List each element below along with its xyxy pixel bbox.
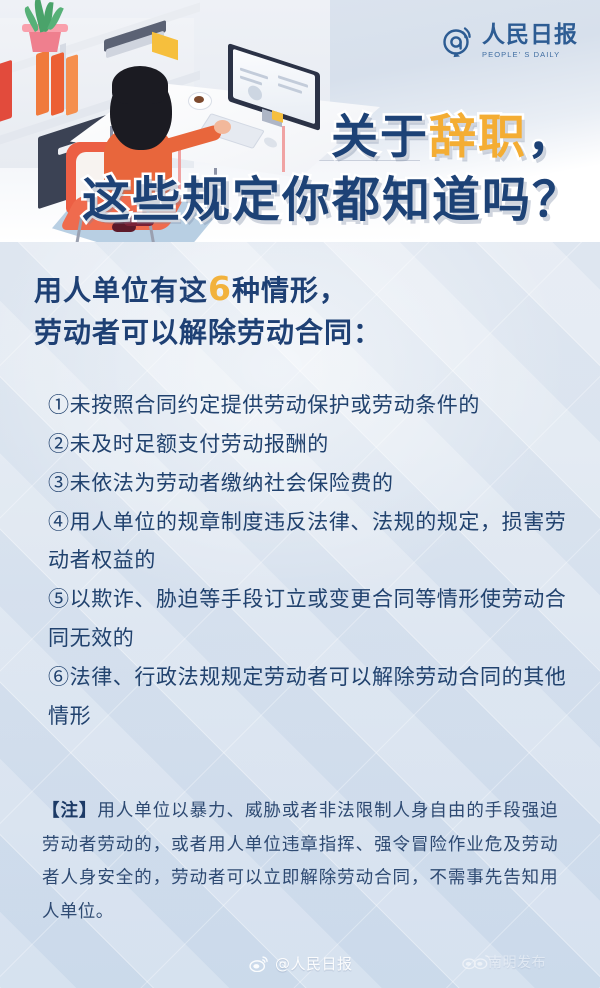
list-item: ⑥法律、行政法规规定劳动者可以解除劳动合同的其他情形 <box>48 658 568 736</box>
logo-title-en: PEOPLE' S DAILY <box>482 50 560 59</box>
list-item-marker: ⑥ <box>48 665 70 689</box>
title-line-2: 这些规定你都知道吗？ <box>82 160 582 230</box>
infographic-poster: 人民日报 PEOPLE' S DAILY 关于辞职， 这些规定你都知道吗？ 用人… <box>0 0 600 988</box>
conditions-list: ①未按照合同约定提供劳动保护或劳动条件的 ②未及时足额支付劳动报酬的 ③未依法为… <box>48 386 568 736</box>
watermark-label: 南明发布 <box>488 952 546 972</box>
coffee-liquid <box>194 96 204 103</box>
section-heading: 用人单位有这6种情形， 劳动者可以解除劳动合同： <box>34 266 574 353</box>
footnote-block: 【注】用人单位以暴力、威胁或者非法限制人身自由的手段强迫劳动者劳动的，或者用人单… <box>42 795 558 929</box>
list-item: ③未依法为劳动者缴纳社会保险费的 <box>48 464 568 503</box>
person-right-hand <box>214 120 231 134</box>
weibo-icon <box>249 956 269 972</box>
watermark-label: @人民日报 <box>275 953 353 974</box>
title-line-1: 关于辞职， <box>331 98 576 167</box>
list-item-text: 以欺诈、胁迫等手段订立或变更合同等情形使劳动合同无效的 <box>48 587 566 650</box>
book-orange-1 <box>36 50 49 116</box>
weibo-watermark-peoples-daily: @人民日报 <box>249 953 353 974</box>
list-item-text: 未及时足额支付劳动报酬的 <box>70 432 329 456</box>
footnote-label: 【注】 <box>42 801 97 821</box>
list-item-text: 未按照合同约定提供劳动保护或劳动条件的 <box>70 393 480 417</box>
list-item-marker: ① <box>48 393 70 417</box>
book-orange-2 <box>51 52 64 116</box>
list-item: ②未及时足额支付劳动报酬的 <box>48 425 568 464</box>
list-item-marker: ④ <box>48 510 70 534</box>
person-hair-top <box>112 66 168 104</box>
weibo-icon <box>462 954 482 970</box>
book-red <box>0 60 12 123</box>
heading-count-number: 6 <box>208 269 232 308</box>
heading-part-1: 用人单位有这 <box>34 274 208 307</box>
peoples-daily-logo: 人民日报 PEOPLE' S DAILY <box>441 24 578 59</box>
list-item-marker: ③ <box>48 471 70 495</box>
list-item-text: 法律、行政法规规定劳动者可以解除劳动合同的其他情形 <box>48 665 566 728</box>
list-item-marker: ⑤ <box>48 587 70 611</box>
list-item: ⑤以欺诈、胁迫等手段订立或变更合同等情形使劳动合同无效的 <box>48 580 568 658</box>
weibo-watermark-nanming: 南明发布 <box>462 952 546 972</box>
list-item: ①未按照合同约定提供劳动保护或劳动条件的 <box>48 386 568 425</box>
footnote-text: 用人单位以暴力、威胁或者非法限制人身自由的手段强迫劳动者劳动的，或者用人单位违章… <box>42 801 558 922</box>
heading-part-2: 种情形， <box>232 274 348 307</box>
list-item-marker: ② <box>48 432 70 456</box>
heading-line-2: 劳动者可以解除劳动合同： <box>34 316 382 349</box>
at-sign-icon <box>441 25 475 59</box>
list-item-text: 未依法为劳动者缴纳社会保险费的 <box>70 471 394 495</box>
title-line1-plain: 关于 <box>331 110 429 165</box>
list-item: ④用人单位的规章制度违反法律、法规的规定，损害劳动者权益的 <box>48 503 568 581</box>
title-line1-accent: 辞职 <box>429 110 527 165</box>
logo-title-cn: 人民日报 <box>482 24 578 47</box>
logo-text-block: 人民日报 PEOPLE' S DAILY <box>482 24 578 59</box>
book-orange-3 <box>66 54 78 116</box>
title-line1-tail: ， <box>527 110 576 165</box>
list-item-text: 用人单位的规章制度违反法律、法规的规定，损害劳动者权益的 <box>48 510 566 573</box>
